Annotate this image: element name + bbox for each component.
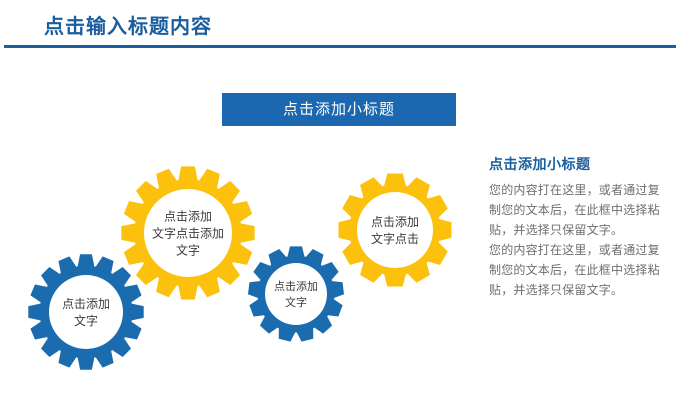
right-text-panel: 点击添加小标题 您的内容打在这里，或者通过复制您的文本后，在此框中选择粘贴，并选…: [489, 155, 667, 300]
right-panel-paragraph: 您的内容打在这里，或者通过复制您的文本后，在此框中选择粘贴，并选择只保留文字。: [489, 180, 667, 240]
gear-yellow-upper-left[interactable]: 点击添加文字点击添加文字: [121, 166, 254, 299]
page-title: 点击输入标题内容: [44, 14, 212, 40]
gear-yellow-right-hub: [357, 192, 433, 268]
subtitle-banner[interactable]: 点击添加小标题: [222, 93, 456, 126]
slide-canvas: 点击输入标题内容 点击添加小标题 点击添加文字点击添加文字点击添加文字点击添加文…: [0, 0, 676, 418]
gear-blue-left[interactable]: 点击添加文字: [28, 254, 143, 369]
right-panel-paragraph: 您的内容打在这里，或者通过复制您的文本后，在此框中选择粘贴，并选择只保留文字。: [489, 240, 667, 300]
gear-diagram: 点击添加文字点击添加文字点击添加文字点击添加文字点击添加文字点击: [0, 140, 480, 400]
gear-yellow-right[interactable]: 点击添加文字点击: [339, 174, 452, 287]
subtitle-banner-label: 点击添加小标题: [222, 93, 456, 126]
gear-blue-left-hub: [49, 275, 123, 349]
right-panel-heading: 点击添加小标题: [489, 155, 667, 173]
header-divider: [4, 45, 676, 48]
gear-blue-middle-hub: [265, 263, 327, 325]
gear-blue-middle[interactable]: 点击添加文字: [248, 246, 344, 341]
gear-diagram-svg: 点击添加文字点击添加文字点击添加文字点击添加文字点击添加文字点击: [0, 140, 480, 400]
